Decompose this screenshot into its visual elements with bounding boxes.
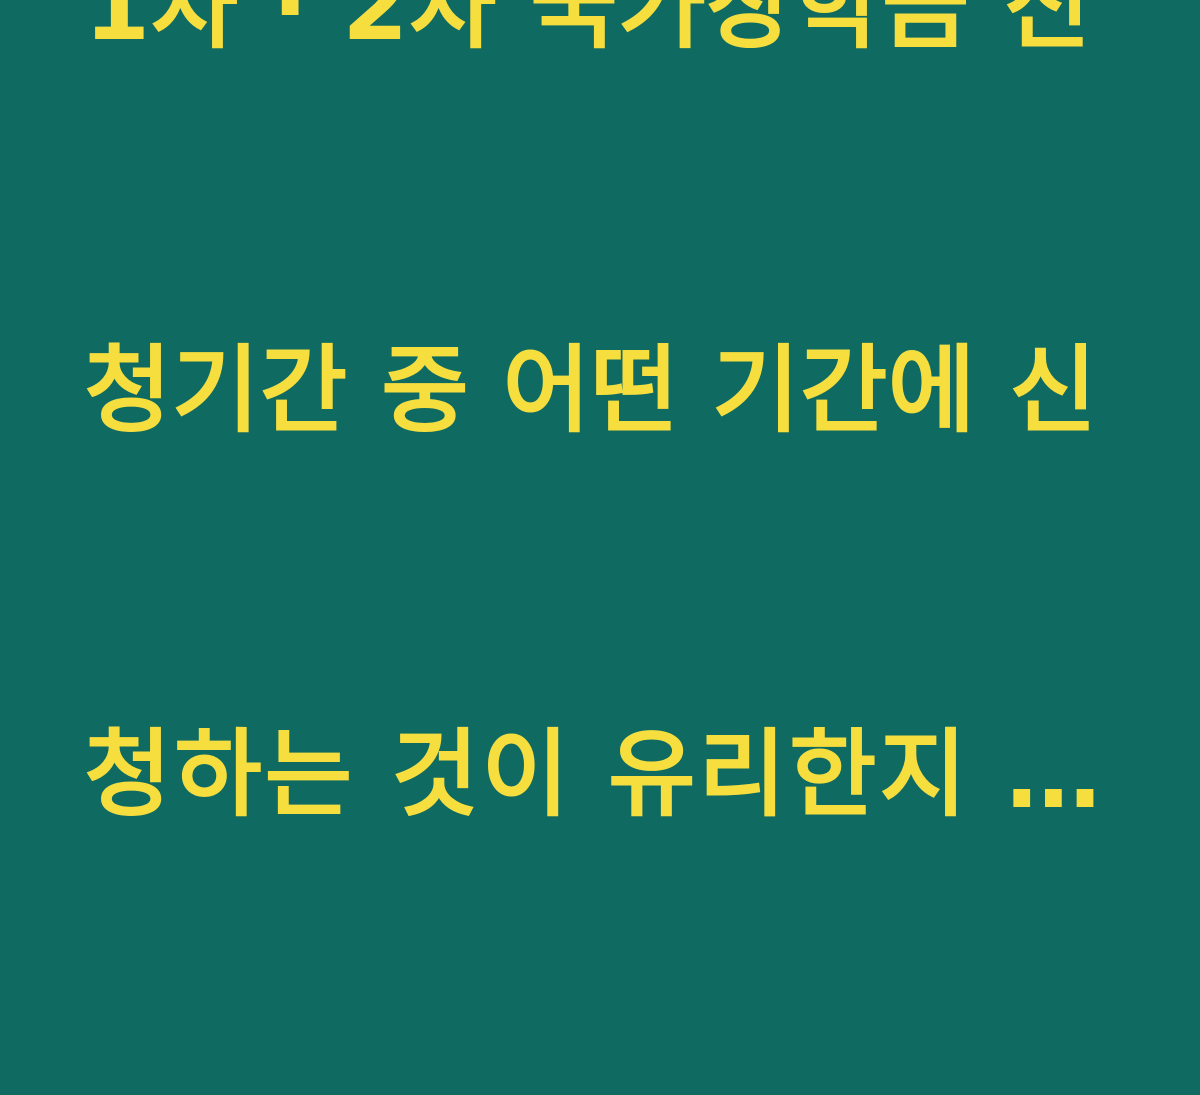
text-card: 1차 · 2차 국가장학금 신 청기간 중 어떤 기간에 신 청하는 것이 유리… (0, 0, 1200, 800)
headline-line-3: 청하는 것이 유리한지 … (84, 711, 1104, 839)
headline-text: 1차 · 2차 국가장학금 신 청기간 중 어떤 기간에 신 청하는 것이 유리… (84, 0, 1104, 1095)
headline-line-1: 1차 · 2차 국가장학금 신 (84, 0, 1104, 71)
headline-line-2: 청기간 중 어떤 기간에 신 (84, 327, 1104, 455)
